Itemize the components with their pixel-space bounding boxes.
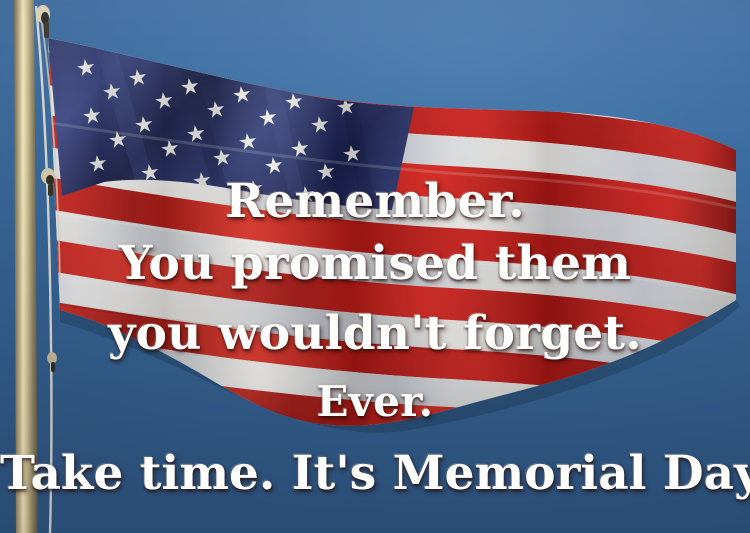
memorial-day-image: Remember. You promised them you wouldn't… bbox=[0, 0, 750, 533]
image-vignette bbox=[0, 0, 750, 533]
